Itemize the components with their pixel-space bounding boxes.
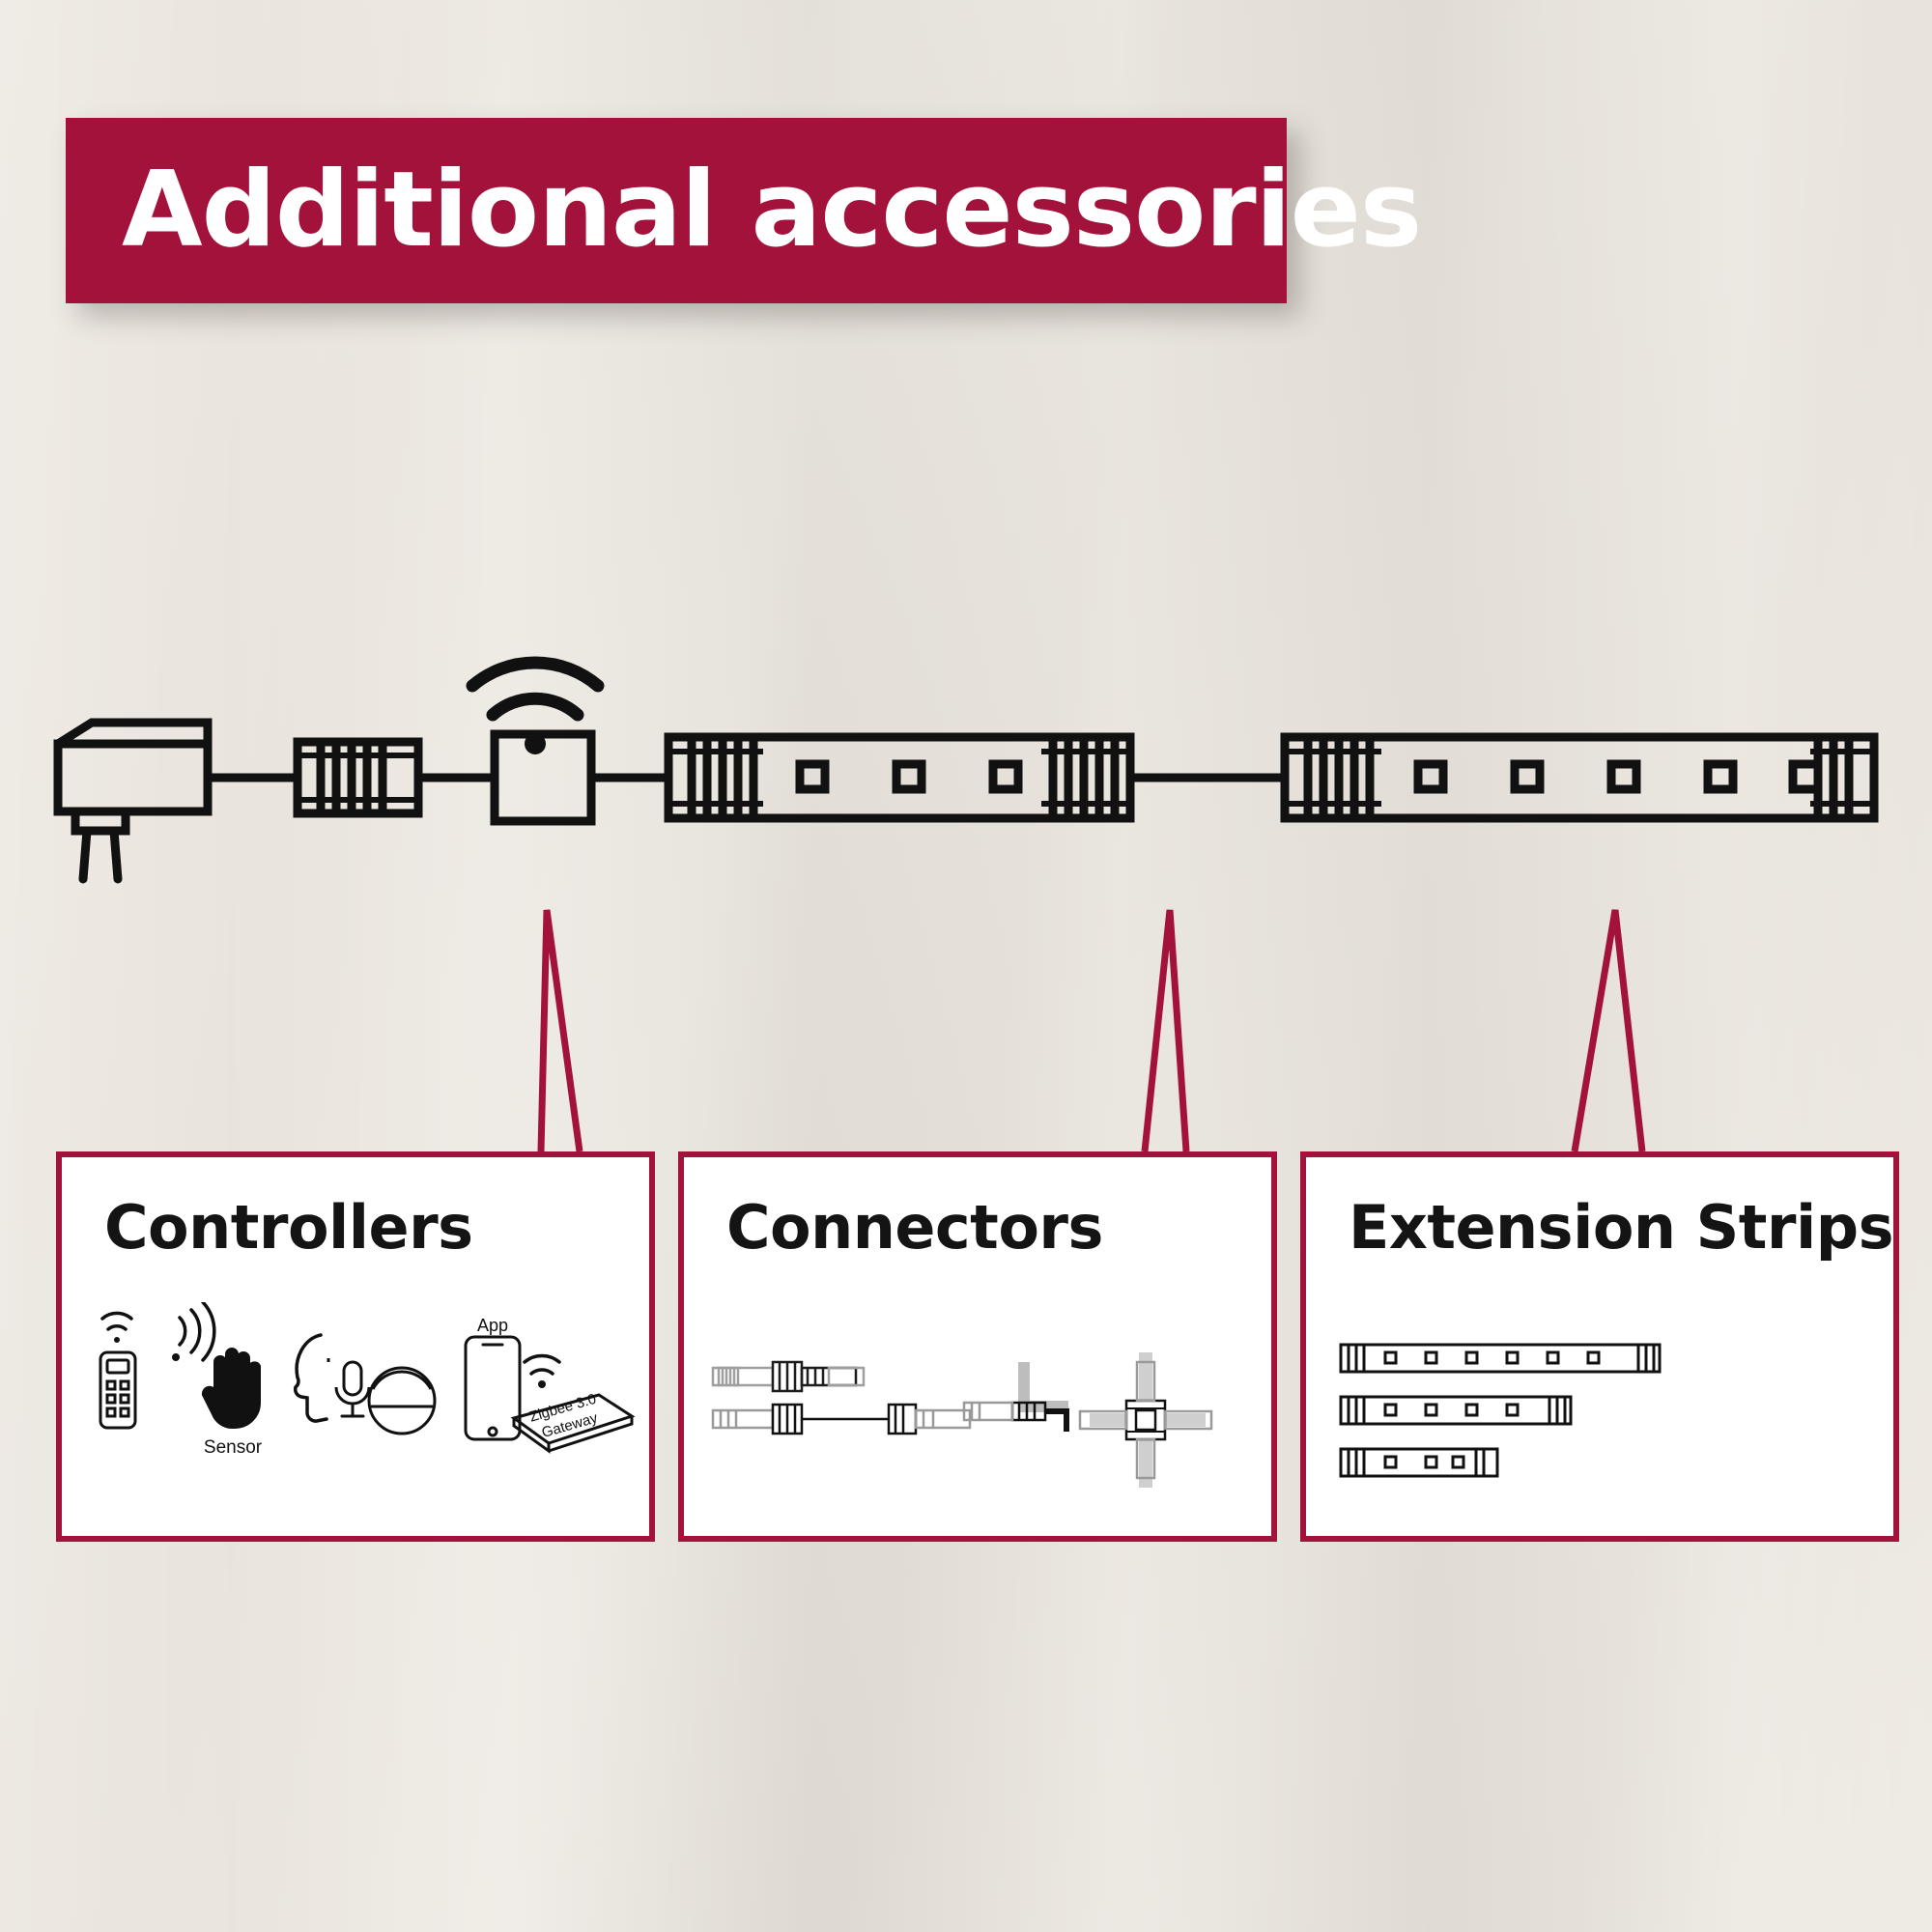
- led-strip-medium-icon: [1341, 1397, 1571, 1424]
- led-strip-2-icon: [1285, 737, 1874, 818]
- app-wifi-icon: [525, 1355, 559, 1388]
- smartphone-app-icon: [466, 1337, 520, 1439]
- callout-pointers: [0, 898, 1932, 1179]
- controllers-artwork: Sensor: [62, 1302, 649, 1524]
- controllers-label-sensor: Sensor: [204, 1437, 263, 1458]
- corner-connector-icon: [964, 1362, 1068, 1432]
- extension-strips-artwork: [1306, 1302, 1893, 1524]
- cross-connector-icon: [1080, 1352, 1211, 1488]
- led-strip-short-icon: [1341, 1449, 1497, 1476]
- callout-title-connectors: Connectors: [726, 1192, 1103, 1263]
- callout-controllers[interactable]: Controllers: [56, 1151, 655, 1542]
- led-strip-long-icon: [1341, 1345, 1660, 1372]
- connectors-artwork: [684, 1302, 1271, 1524]
- motion-sensor-hand-icon: [172, 1302, 260, 1428]
- connector-1-icon: [298, 742, 418, 813]
- straight-connector-cable-icon: [713, 1405, 970, 1434]
- callout-connectors[interactable]: Connectors: [678, 1151, 1277, 1542]
- power-supply-icon: [58, 723, 208, 879]
- callout-title-extension-strips: Extension Strips: [1349, 1192, 1893, 1263]
- pointer-connectors: [1145, 910, 1186, 1151]
- pointer-extension-strips: [1575, 910, 1642, 1151]
- voice-assistant-icon: [296, 1335, 435, 1434]
- poster-canvas: Additional accessories: [0, 0, 1932, 1932]
- controllers-label-app: App: [477, 1316, 508, 1335]
- led-strip-1-icon: [668, 737, 1130, 818]
- title-banner: Additional accessories: [66, 118, 1287, 303]
- callout-extension-strips[interactable]: Extension Strips: [1300, 1151, 1899, 1542]
- callout-title-controllers: Controllers: [104, 1192, 473, 1263]
- straight-connector-icon: [713, 1362, 864, 1391]
- remote-control-icon: [100, 1313, 135, 1428]
- page-title: Additional accessories: [66, 158, 1421, 263]
- pointer-controllers: [541, 910, 580, 1151]
